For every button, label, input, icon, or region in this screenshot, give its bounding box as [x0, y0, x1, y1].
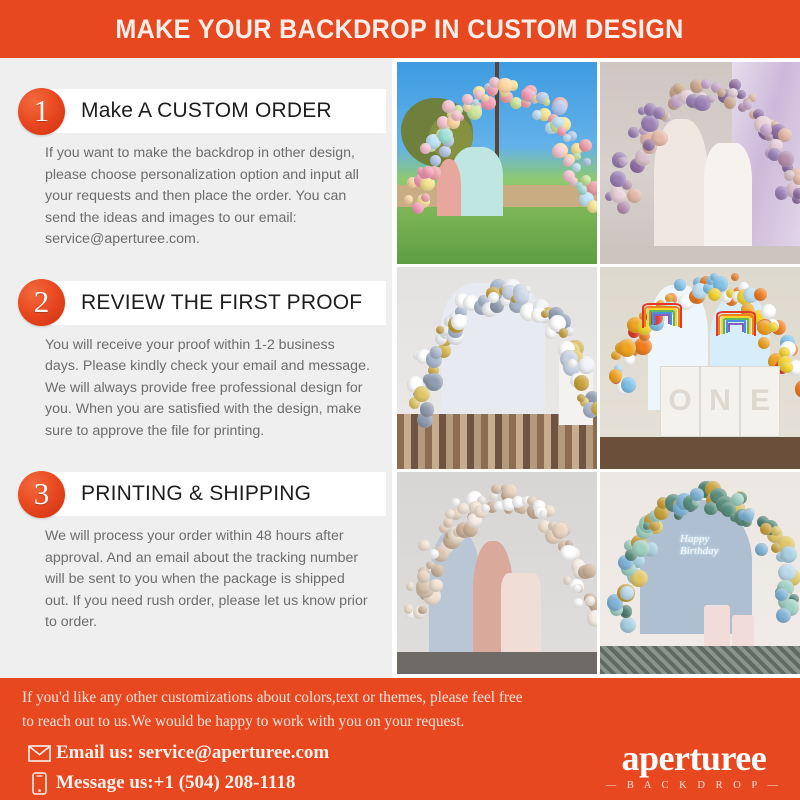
phone-icon: [22, 772, 56, 795]
step-number-badge-1: 1: [18, 88, 65, 135]
balloon: [618, 339, 636, 357]
balloon: [406, 582, 414, 590]
letter-block: N: [700, 366, 740, 437]
balloon: [701, 79, 711, 89]
balloon: [583, 158, 591, 166]
balloon: [793, 188, 800, 198]
balloon: [706, 95, 715, 104]
step-item-1: 1 Make A CUSTOM ORDER If you want to mak…: [0, 88, 392, 251]
balloon: [420, 402, 435, 417]
floor-shape: [600, 437, 800, 469]
letter-block: E: [740, 366, 780, 437]
balloon: [632, 540, 650, 558]
balloon: [690, 488, 704, 502]
balloon: [708, 288, 721, 301]
rainbow-arc: [728, 323, 744, 333]
balloon: [611, 189, 625, 203]
balloon: [430, 346, 442, 358]
contact-block: Email us: service@aperturee.com Message …: [22, 738, 329, 798]
balloon: [761, 304, 776, 319]
step-title-2: REVIEW THE FIRST PROOF: [81, 291, 362, 315]
balloon: [621, 377, 636, 392]
balloon: [574, 375, 590, 391]
balloon: [552, 117, 563, 128]
balloon: [578, 357, 595, 374]
neon-sign-text: Happy Birthday: [680, 533, 748, 565]
balloon: [731, 493, 744, 506]
balloon: [771, 543, 781, 553]
gallery-photo-4: ONE: [600, 267, 800, 469]
step-body-2: You will receive your proof within 1-2 b…: [45, 335, 372, 443]
balloon: [610, 171, 626, 187]
balloon: [775, 588, 788, 601]
balloon: [429, 579, 443, 593]
balloon: [760, 124, 772, 136]
balloon: [674, 279, 685, 290]
step-header-3: 3 PRINTING & SHIPPING: [0, 471, 392, 517]
balloon: [754, 288, 767, 301]
balloon: [778, 151, 794, 167]
balloon: [491, 484, 501, 494]
gallery-photo-3: [397, 267, 597, 469]
balloon: [587, 610, 597, 627]
balloon: [426, 561, 434, 569]
grass-shape: [397, 207, 597, 264]
balloon: [572, 163, 581, 172]
gallery-photo-5: [397, 472, 597, 674]
steps-column: 1 Make A CUSTOM ORDER If you want to mak…: [0, 58, 392, 678]
step-title-3: PRINTING & SHIPPING: [81, 482, 311, 506]
balloon: [742, 510, 754, 522]
balloon: [627, 188, 642, 203]
email-row[interactable]: Email us: service@aperturee.com: [22, 738, 329, 768]
balloon: [404, 195, 413, 204]
balloon: [617, 201, 630, 214]
balloon: [755, 543, 768, 556]
footer-note-line1: If you'd like any other customizations a…: [22, 686, 642, 710]
balloon: [420, 143, 431, 154]
balloon: [552, 100, 567, 115]
infographic-page: MAKE YOUR BACKDROP IN CUSTOM DESIGN 1 Ma…: [0, 0, 800, 800]
envelope-icon: [22, 745, 56, 762]
balloon: [795, 380, 800, 397]
balloon: [579, 139, 592, 152]
floor-shape: [600, 646, 800, 674]
balloon: [543, 98, 551, 106]
balloon: [778, 564, 796, 582]
balloon: [481, 504, 490, 513]
backdrop-panel: [501, 573, 541, 654]
footer-banner: If you'd like any other customizations a…: [0, 678, 800, 800]
phone-label: Message us:+1 (504) 208-1118: [56, 772, 295, 794]
balloon: [418, 540, 429, 551]
balloon: [620, 617, 636, 633]
step-body-1: If you want to make the backdrop in othe…: [45, 143, 372, 251]
balloon: [429, 549, 439, 559]
balloon: [497, 78, 512, 93]
balloon: [539, 510, 547, 518]
step-header-1: 1 Make A CUSTOM ORDER: [0, 88, 392, 134]
floor-shape: [397, 652, 597, 674]
footer-note-line2: to reach out to us.We would be happy to …: [22, 710, 642, 734]
balloon: [563, 134, 571, 142]
balloon: [439, 146, 450, 157]
balloon: [780, 546, 797, 563]
balloon: [649, 521, 660, 532]
backdrop-panel: [704, 143, 752, 248]
email-label: Email us: service@aperturee.com: [56, 742, 329, 764]
balloon: [776, 608, 791, 623]
brand-tagline: — B A C K D R O P —: [606, 780, 782, 791]
floor-shape: [600, 246, 800, 264]
balloon: [421, 193, 430, 202]
plinth-shape: [732, 615, 754, 649]
balloon: [541, 310, 549, 318]
balloon: [559, 328, 568, 337]
brand-logo: aperturee — B A C K D R O P —: [606, 740, 782, 791]
balloon: [775, 186, 788, 199]
step-header-2: 2 REVIEW THE FIRST PROOF: [0, 280, 392, 326]
step-body-3: We will process your order within 48 hou…: [45, 526, 372, 634]
balloon: [585, 596, 594, 605]
phone-row[interactable]: Message us:+1 (504) 208-1118: [22, 768, 329, 798]
step-number-2: 2: [34, 286, 50, 317]
balloon: [653, 107, 665, 119]
page-title: MAKE YOUR BACKDROP IN CUSTOM DESIGN: [116, 14, 684, 45]
balloon: [552, 522, 569, 539]
gallery-photo-6: Happy Birthday: [600, 472, 800, 674]
balloon: [451, 314, 467, 330]
gallery-photo-1: [397, 62, 597, 264]
balloon: [481, 94, 489, 102]
balloon: [724, 96, 737, 109]
step-title-1: Make A CUSTOM ORDER: [81, 99, 332, 123]
plinth-shape: [704, 605, 730, 649]
balloon: [577, 394, 585, 402]
balloon: [578, 185, 587, 194]
step-number-badge-2: 2: [18, 279, 65, 326]
balloon: [731, 273, 739, 281]
balloon: [619, 157, 628, 166]
balloon: [422, 166, 434, 178]
balloon: [620, 586, 634, 600]
balloon: [587, 200, 597, 213]
gallery-photo-2: [600, 62, 800, 264]
step-number-1: 1: [34, 95, 50, 126]
balloon: [582, 564, 595, 577]
backdrop-panel: [437, 159, 461, 216]
header-banner: MAKE YOUR BACKDROP IN CUSTOM DESIGN: [0, 0, 800, 58]
balloon: [768, 322, 778, 332]
brand-name: aperturee: [606, 740, 782, 776]
balloon: [609, 369, 623, 383]
balloon: [418, 606, 426, 614]
balloon: [425, 373, 443, 391]
balloon: [532, 110, 543, 121]
photo-gallery: ONE Happy Birthday: [397, 62, 800, 674]
balloon: [760, 523, 772, 535]
rainbow-arc: [654, 314, 670, 324]
step-item-2: 2 REVIEW THE FIRST PROOF You will receiv…: [0, 280, 392, 443]
balloon: [573, 598, 583, 608]
balloon: [781, 362, 792, 373]
balloon: [628, 127, 639, 138]
step-item-3: 3 PRINTING & SHIPPING We will process yo…: [0, 471, 392, 634]
step-number-badge-3: 3: [18, 471, 65, 518]
balloon: [510, 97, 522, 109]
balloon: [572, 584, 581, 593]
balloon: [758, 337, 770, 349]
footer-note: If you'd like any other customizations a…: [22, 686, 642, 734]
step-number-3: 3: [34, 478, 50, 509]
letter-block: O: [660, 366, 700, 437]
